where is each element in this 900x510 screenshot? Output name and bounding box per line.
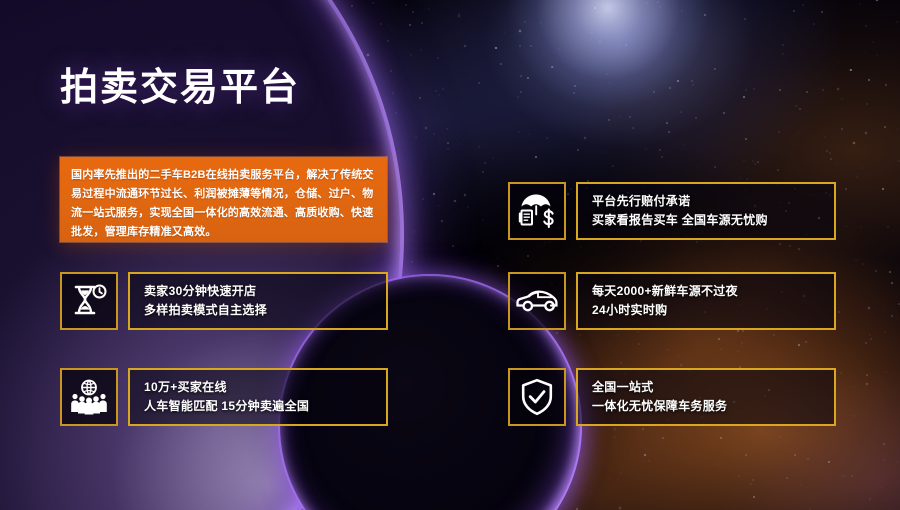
feature-line-1: 平台先行赔付承诺 <box>592 192 834 211</box>
hourglass-clock-icon <box>60 272 118 330</box>
feature-card-buyers-online[interactable]: 10万+买家在线 人车智能匹配 15分钟卖遍全国 <box>60 368 388 426</box>
feature-card-nationwide-service[interactable]: 全国一站式 一体化无忧保障车务服务 <box>508 368 836 426</box>
car-icon <box>508 272 566 330</box>
slide-canvas: 拍卖交易平台 国内率先推出的二手车B2B在线拍卖服务平台，解决了传统交易过程中流… <box>0 0 900 510</box>
feature-line-2: 一体化无忧保障车务服务 <box>592 397 834 416</box>
feature-text-block: 全国一站式 一体化无忧保障车务服务 <box>576 368 836 426</box>
feature-text-block: 卖家30分钟快速开店 多样拍卖模式自主选择 <box>128 272 388 330</box>
feature-card-daily-fresh-cars[interactable]: 每天2000+新鲜车源不过夜 24小时实时购 <box>508 272 836 330</box>
feature-card-advance-compensation[interactable]: 平台先行赔付承诺 买家看报告买车 全国车源无忧购 <box>508 182 836 240</box>
intro-panel: 国内率先推出的二手车B2B在线拍卖服务平台，解决了传统交易过程中流通环节过长、利… <box>60 157 387 242</box>
intro-text: 国内率先推出的二手车B2B在线拍卖服务平台，解决了传统交易过程中流通环节过长、利… <box>71 166 376 242</box>
page-title: 拍卖交易平台 <box>60 56 300 111</box>
feature-card-seller-open-shop[interactable]: 卖家30分钟快速开店 多样拍卖模式自主选择 <box>60 272 388 330</box>
feature-line-2: 24小时实时购 <box>592 301 834 320</box>
feature-text-block: 平台先行赔付承诺 买家看报告买车 全国车源无忧购 <box>576 182 836 240</box>
feature-text-block: 每天2000+新鲜车源不过夜 24小时实时购 <box>576 272 836 330</box>
feature-line-2: 买家看报告买车 全国车源无忧购 <box>592 211 834 230</box>
globe-people-icon <box>60 368 118 426</box>
feature-line-1: 每天2000+新鲜车源不过夜 <box>592 282 834 301</box>
feature-line-2: 多样拍卖模式自主选择 <box>144 301 386 320</box>
feature-line-2: 人车智能匹配 15分钟卖遍全国 <box>144 397 386 416</box>
shield-check-icon <box>508 368 566 426</box>
feature-line-1: 10万+买家在线 <box>144 378 386 397</box>
feature-line-1: 卖家30分钟快速开店 <box>144 282 386 301</box>
umbrella-document-dollar-icon <box>508 182 566 240</box>
feature-text-block: 10万+买家在线 人车智能匹配 15分钟卖遍全国 <box>128 368 388 426</box>
feature-line-1: 全国一站式 <box>592 378 834 397</box>
